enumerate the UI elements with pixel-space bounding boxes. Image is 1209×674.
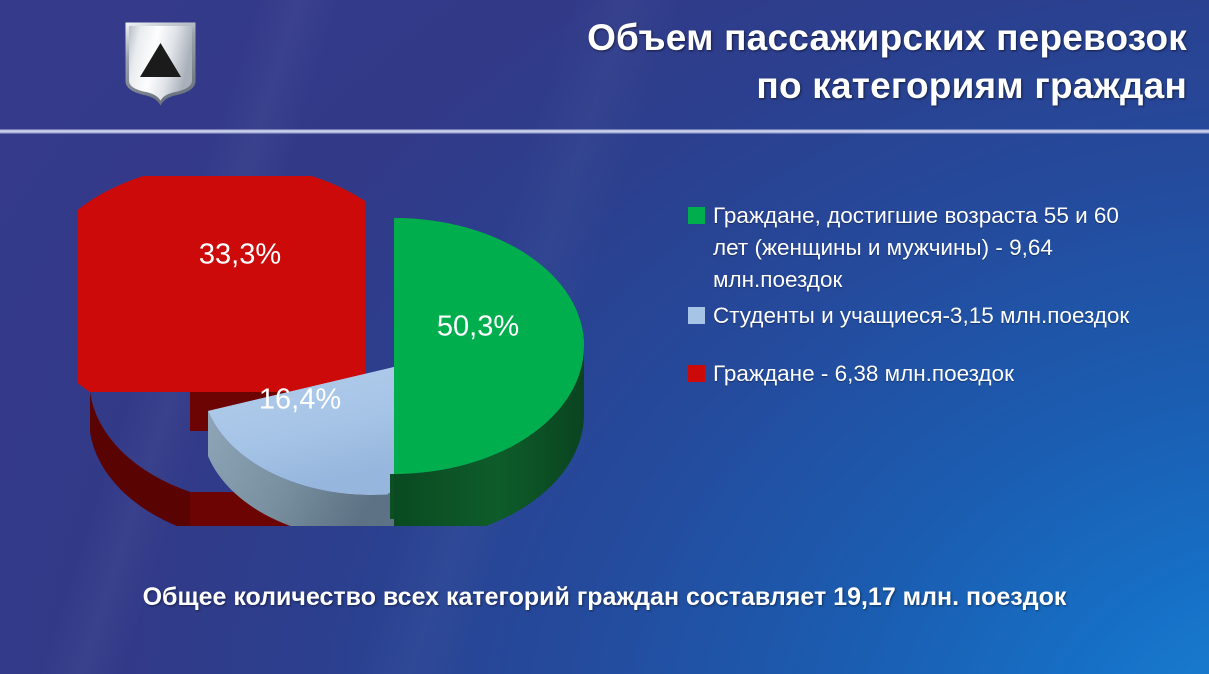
header-divider xyxy=(0,129,1209,134)
coat-of-arms-shield-icon xyxy=(122,19,199,111)
page-title: Объем пассажирских перевозок по категори… xyxy=(467,14,1187,110)
legend-label-lightblue: Студенты и учащиеся-3,15 млн.поездок xyxy=(713,300,1129,332)
legend-item-red[interactable]: Граждане - 6,38 млн.поездок xyxy=(688,358,1188,390)
legend-label-red: Граждане - 6,38 млн.поездок xyxy=(713,358,1014,390)
legend-swatch-red xyxy=(688,365,705,382)
presentation-slide: Объем пассажирских перевозок по категори… xyxy=(0,0,1209,674)
legend-item-lightblue[interactable]: Студенты и учащиеся-3,15 млн.поездок xyxy=(688,300,1188,332)
title-line-2: по категориям граждан xyxy=(467,62,1187,110)
title-line-1: Объем пассажирских перевозок xyxy=(467,14,1187,62)
pie-label-lightblue: 16,4% xyxy=(259,384,341,416)
pie-label-green: 50,3% xyxy=(437,311,519,343)
legend-item-green[interactable]: Граждане, достигшие возраста 55 и 60 лет… xyxy=(688,200,1188,296)
total-summary-text: Общее количество всех категорий граждан … xyxy=(0,583,1209,612)
legend-swatch-green xyxy=(688,207,705,224)
pie-chart: 33,3% 16,4% 50,3% xyxy=(78,176,688,526)
pie-label-red: 33,3% xyxy=(199,239,281,271)
legend-label-green: Граждане, достигшие возраста 55 и 60 лет… xyxy=(713,200,1153,296)
legend-swatch-lightblue xyxy=(688,307,705,324)
slide-header: Объем пассажирских перевозок по категори… xyxy=(0,0,1209,132)
chart-legend: Граждане, достигшие возраста 55 и 60 лет… xyxy=(688,200,1188,394)
